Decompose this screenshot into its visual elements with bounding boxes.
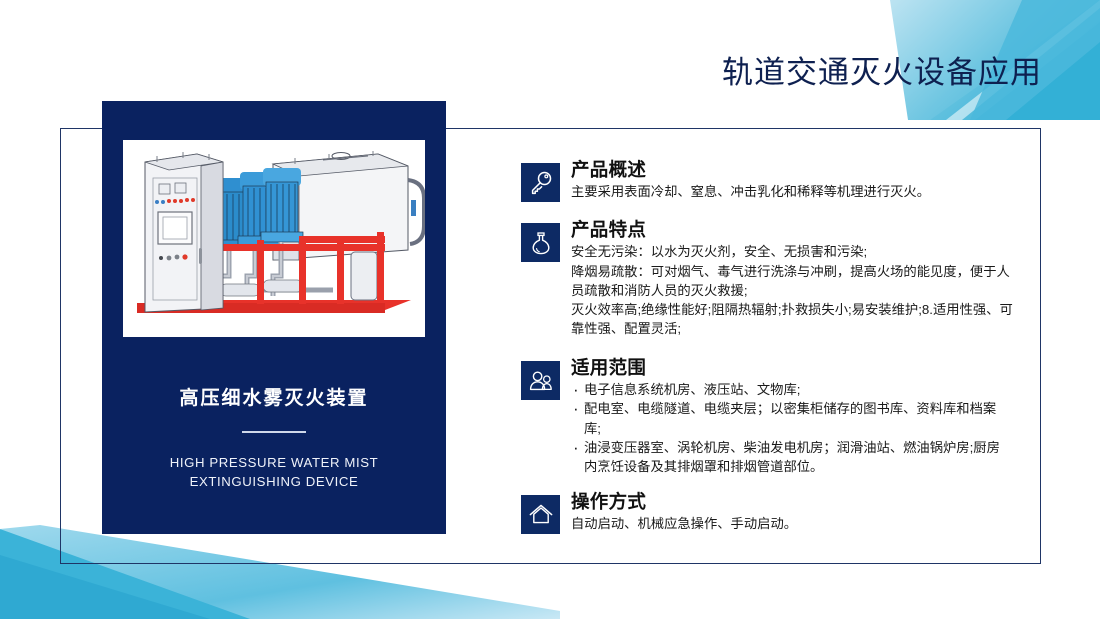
slide-canvas: 轨道交通灭火设备应用 bbox=[0, 0, 1100, 619]
product-name-cn: 高压细水雾灭火装置 bbox=[102, 383, 446, 410]
list-item: 配电室、电缆隧道、电缆夹层；以密集柜储存的图书库、资料库和档案库; bbox=[571, 399, 1013, 437]
list-item: 油浸变压器室、涡轮机房、柴油发电机房；润滑油站、燃油锅炉房;厨房内烹饪设备及其排… bbox=[571, 438, 1013, 476]
flask-icon bbox=[521, 223, 560, 262]
list-item: 电子信息系统机房、液压站、文物库; bbox=[571, 380, 1013, 399]
key-icon bbox=[521, 163, 560, 202]
scope-list: 电子信息系统机房、液压站、文物库; 配电室、电缆隧道、电缆夹层；以密集柜储存的图… bbox=[571, 380, 1013, 476]
home-icon bbox=[521, 495, 560, 534]
section-paragraph: 灭火效率高;绝缘性能好;阻隔热辐射;扑救损失小;易安装维护;8.适用性强、可靠性… bbox=[571, 300, 1013, 338]
product-photo bbox=[123, 140, 425, 337]
section-paragraph: 降烟易疏散：可对烟气、毒气进行洗涤与冲刷，提高火场的能见度，便于人员疏散和消防人… bbox=[571, 262, 1013, 300]
section-overview: 产品概述 主要采用表面冷却、窒息、冲击乳化和稀释等机理进行灭火。 bbox=[521, 158, 1013, 201]
section-heading: 产品特点 bbox=[571, 218, 1013, 241]
section-operation: 操作方式 自动启动、机械应急操作、手动启动。 bbox=[521, 490, 1013, 533]
section-scope: 适用范围 电子信息系统机房、液压站、文物库; 配电室、电缆隧道、电缆夹层；以密集… bbox=[521, 356, 1013, 476]
product-name-en-line2: EXTINGUISHING DEVICE bbox=[128, 472, 420, 491]
page-title: 轨道交通灭火设备应用 bbox=[722, 47, 1042, 92]
product-name-en-line1: HIGH PRESSURE WATER MIST bbox=[128, 453, 420, 472]
section-paragraph: 自动启动、机械应急操作、手动启动。 bbox=[571, 514, 1013, 533]
section-heading: 产品概述 bbox=[571, 158, 1013, 181]
section-features: 产品特点 安全无污染：以水为灭火剂，安全、无损害和污染; 降烟易疏散：可对烟气、… bbox=[521, 218, 1013, 338]
section-paragraph: 安全无污染：以水为灭火剂，安全、无损害和污染; bbox=[571, 242, 1013, 261]
section-paragraph: 主要采用表面冷却、窒息、冲击乳化和稀释等机理进行灭火。 bbox=[571, 182, 1013, 201]
product-name-en: HIGH PRESSURE WATER MIST EXTINGUISHING D… bbox=[128, 453, 420, 491]
card-divider bbox=[242, 431, 306, 433]
sections-container: 产品概述 主要采用表面冷却、窒息、冲击乳化和稀释等机理进行灭火。 产品特点 安全… bbox=[521, 158, 1013, 542]
product-card: 高压细水雾灭火装置 HIGH PRESSURE WATER MIST EXTIN… bbox=[102, 101, 446, 534]
water-mist-pump-unit-illustration bbox=[123, 140, 425, 337]
section-heading: 操作方式 bbox=[571, 490, 1013, 513]
people-icon bbox=[521, 361, 560, 400]
section-heading: 适用范围 bbox=[571, 356, 1013, 379]
